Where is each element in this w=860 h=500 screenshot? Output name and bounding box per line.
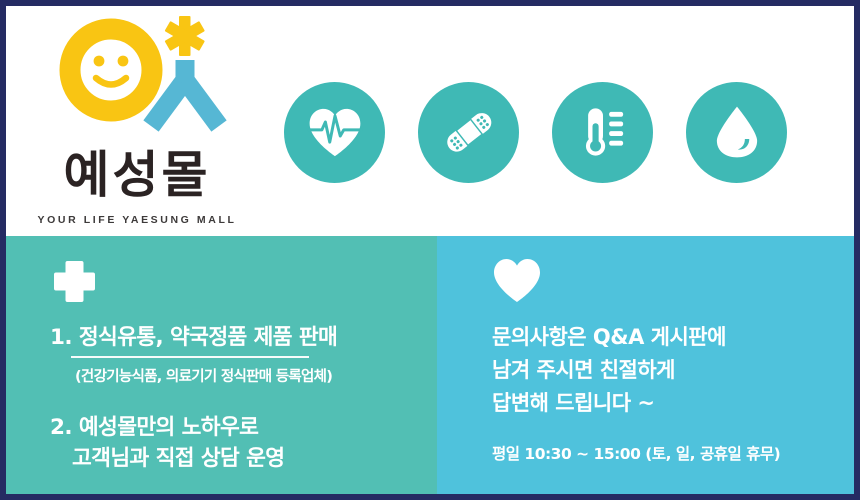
trust-item-2-title: 2. 예성몰만의 노하우로 [50,412,430,443]
bandage-icon[interactable] [418,82,519,183]
thermometer-icon[interactable] [552,82,653,183]
smiley-ring-person-logo [58,8,243,148]
panel-trust-info: 1. 정식유통, 약국정품 제품 판매 (건강기능식품, 의료기기 정식판매 등… [6,236,437,494]
trust-item-1-text: 정식유통, 약국정품 제품 판매 [79,325,337,350]
qa-line-3: 답변해 드립니다 ~ [492,387,842,420]
trust-item-1-sub: (건강기능식품, 의료기기 정식판매 등록업체) [75,367,430,387]
list-item: 2. 예성몰만의 노하우로 고객님과 직접 상담 운영 [50,412,430,474]
heart-pulse-icon[interactable] [284,82,385,183]
brand-name: 예성몰 [6,146,268,204]
trust-item-2-number: 2. [50,415,72,440]
banner-header: 예성몰 YOUR LIFE YAESUNG MALL [6,6,854,236]
brand-lockup[interactable]: 예성몰 YOUR LIFE YAESUNG MALL [6,6,268,236]
qa-line-1: 문의사항은 Q&A 게시판에 [492,321,842,354]
underline-rule [71,356,309,358]
trust-item-1-number: 1. [50,325,72,350]
trust-item-2-line1: 예성몰만의 노하우로 [79,415,259,440]
list-item: 1. 정식유통, 약국정품 제품 판매 (건강기능식품, 의료기기 정식판매 등… [50,323,430,387]
business-hours: 평일 10:30 ~ 15:00 (토, 일, 공휴일 휴무) [492,443,842,465]
qa-text-block: 문의사항은 Q&A 게시판에 남겨 주시면 친절하게 답변해 드립니다 ~ 평일… [492,321,842,465]
trust-item-1-title: 1. 정식유통, 약국정품 제품 판매 [50,323,430,353]
trust-list: 1. 정식유통, 약국정품 제품 판매 (건강기능식품, 의료기기 정식판매 등… [50,323,430,474]
medical-cross-icon [52,259,97,304]
feature-icon-row [284,80,844,184]
brand-tagline: YOUR LIFE YAESUNG MALL [6,213,268,227]
trust-item-2-line2: 고객님과 직접 상담 운영 [50,443,430,474]
heart-icon [493,258,541,303]
banner-panels: 1. 정식유통, 약국정품 제품 판매 (건강기능식품, 의료기기 정식판매 등… [6,236,854,494]
panel-qa-info: 문의사항은 Q&A 게시판에 남겨 주시면 친절하게 답변해 드립니다 ~ 평일… [437,236,854,494]
qa-line-2: 남겨 주시면 친절하게 [492,354,842,387]
promo-banner: 예성몰 YOUR LIFE YAESUNG MALL [0,0,860,500]
water-drop-icon[interactable] [686,82,787,183]
